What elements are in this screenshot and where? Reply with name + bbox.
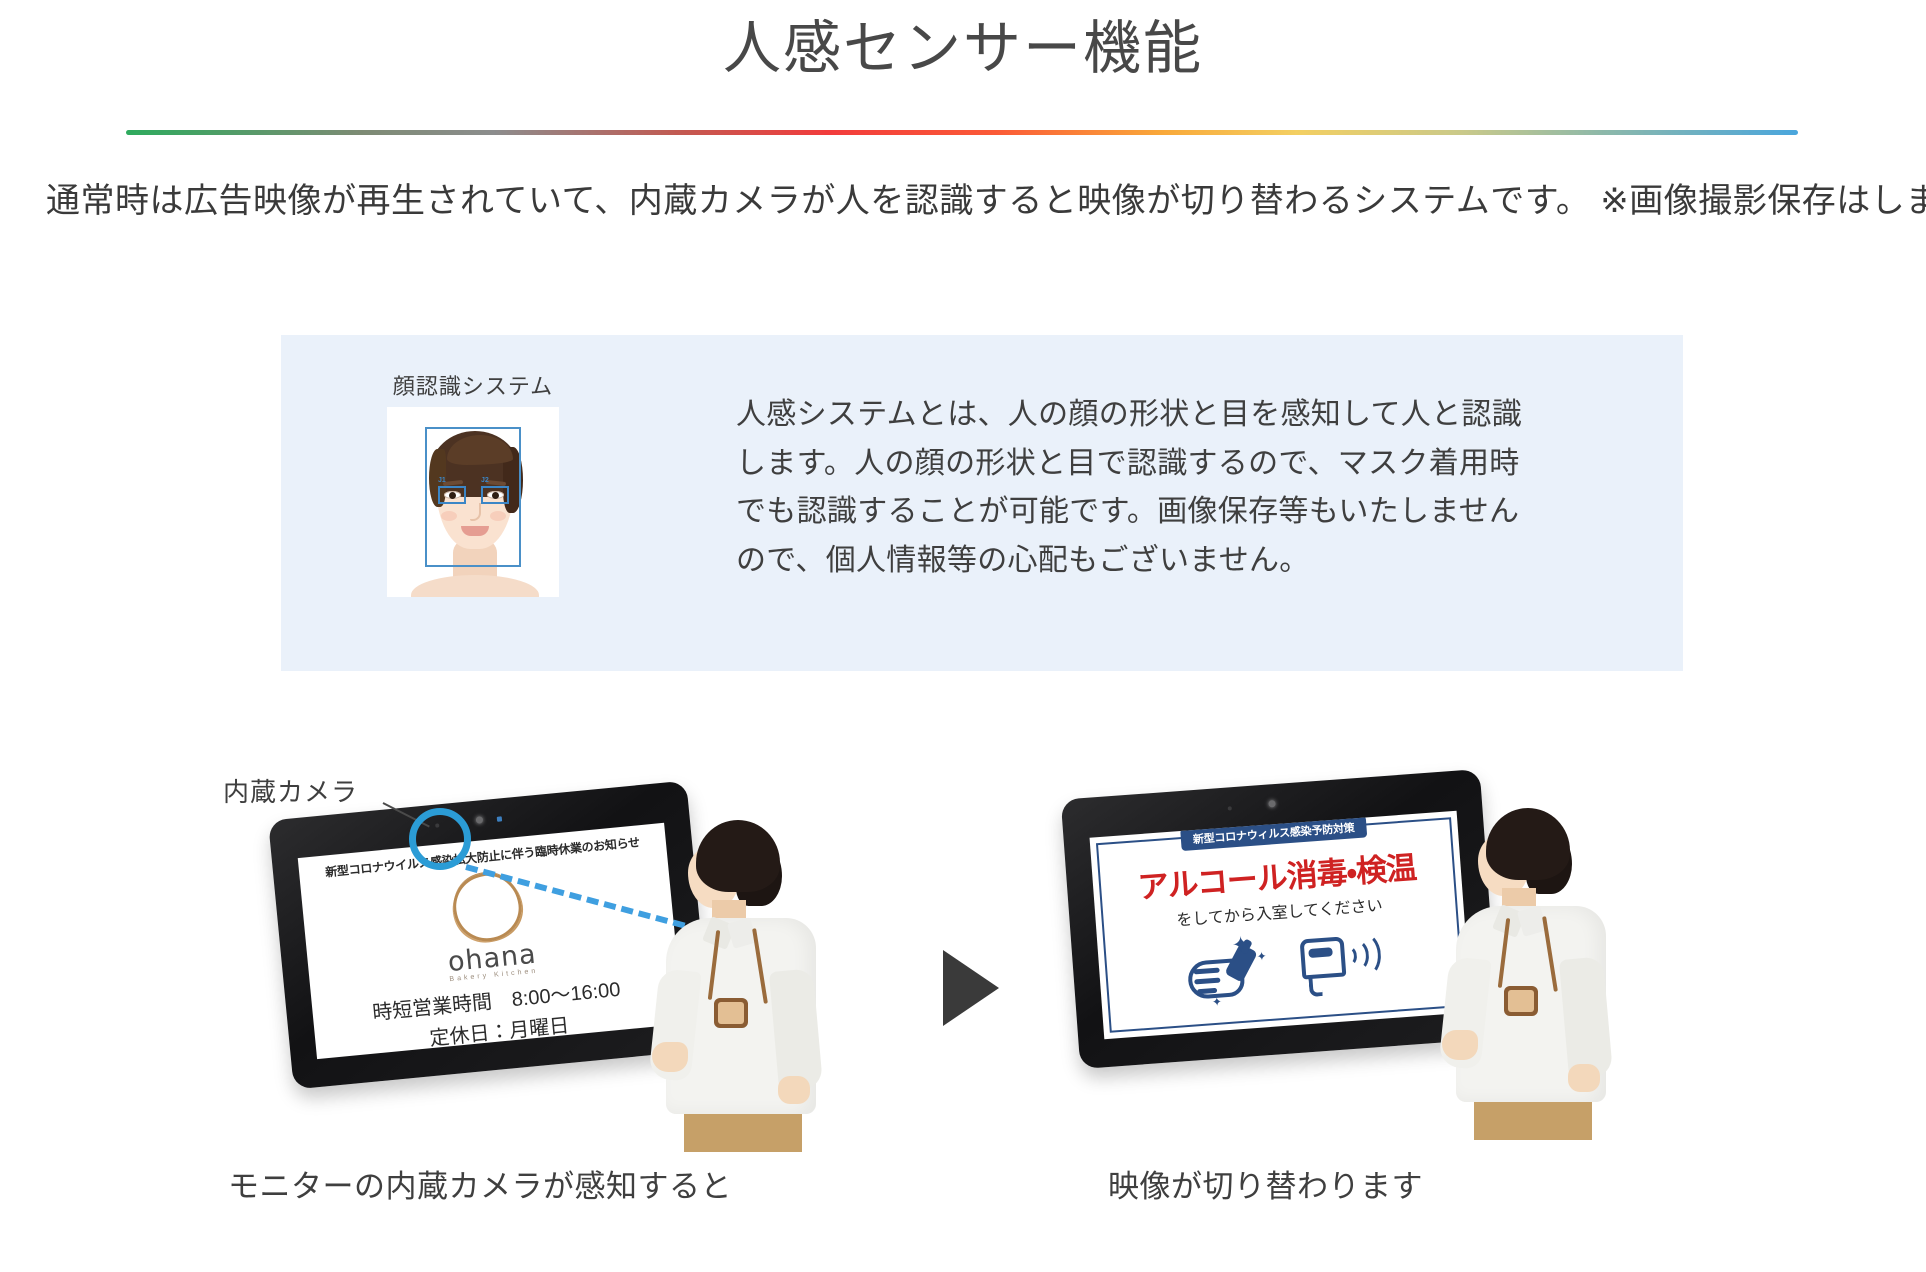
eye-detection-box-right	[481, 486, 509, 504]
lead-paragraph: 通常時は広告映像が再生されていて、内蔵カメラが人を認識すると映像が切り替わるシス…	[46, 176, 1886, 227]
person-hand-right	[1568, 1064, 1600, 1092]
person-figure-before	[650, 820, 840, 1150]
prevention-poster: 新型コロナウィルス感染予防対策 アルコール消毒・検温 をしてから入室してください…	[1096, 817, 1465, 1033]
face-recognition-info-panel: 顔認識システム J1 J2 人感システムとは、人の顔の形状と	[281, 335, 1683, 671]
face-shoulders	[411, 575, 539, 597]
camera-callout-label: 内蔵カメラ	[223, 772, 358, 809]
sparkle-icon: ✦	[1231, 933, 1251, 956]
person-hair	[1486, 808, 1570, 880]
eye-detection-tag-left: J1	[438, 477, 446, 484]
face-figure-caption: 顔認識システム	[383, 369, 563, 401]
face-photo: J1 J2	[387, 407, 559, 597]
thermometer-display-shape	[1308, 947, 1333, 958]
person-id-badge-inner	[718, 1002, 744, 1024]
hand-sanitizer-icon: ✦ ✦ ✦	[1185, 934, 1278, 1008]
person-id-badge-inner	[1508, 990, 1534, 1012]
person-hand-right	[778, 1076, 810, 1104]
person-hand-left	[1442, 1030, 1478, 1060]
built-in-camera-icon	[476, 816, 484, 824]
person-id-badge	[714, 998, 748, 1028]
thermometer-icon	[1299, 926, 1382, 1000]
eye-detection-box-left	[438, 486, 466, 504]
monitor-before: 新型コロナウイルス感染拡大防止に伴う臨時休業のお知らせ ohana Bakery…	[268, 780, 712, 1089]
poster-icon-row: ✦ ✦ ✦	[1105, 920, 1461, 1014]
caption-after: 映像が切り替わります	[1108, 1161, 1423, 1206]
person-id-badge	[1504, 986, 1538, 1016]
poster-badge: 新型コロナウィルス感染予防対策	[1180, 815, 1367, 851]
face-recognition-figure: 顔認識システム J1 J2	[383, 369, 563, 597]
monitor-screen-after: 新型コロナウィルス感染予防対策 アルコール消毒・検温 をしてから入室してください…	[1090, 811, 1472, 1039]
page-title: 人感センサー機能	[0, 14, 1926, 84]
sparkle-icon: ✦	[1211, 995, 1222, 1008]
eye-detection-tag-right: J2	[481, 477, 489, 484]
info-panel-body-text: 人感システムとは、人の顔の形状と目を感知して人と認識します。人の顔の形状と目で認…	[736, 391, 1526, 585]
play-triangle-icon	[943, 950, 999, 1026]
monitor-after: 新型コロナウィルス感染予防対策 アルコール消毒・検温 をしてから入室してください…	[1061, 769, 1500, 1069]
camera-indicator-icon	[497, 816, 502, 821]
sparkle-icon: ✦	[1256, 950, 1267, 963]
caption-before: モニターの内蔵カメラが感知すると	[228, 1161, 732, 1206]
person-hand-left	[652, 1042, 688, 1072]
built-in-camera-icon	[1268, 800, 1275, 807]
sensor-dot-icon	[1228, 806, 1232, 810]
thermometer-grip-shape	[1308, 974, 1323, 997]
thermometer-body-shape	[1300, 936, 1347, 979]
person-figure-after	[1440, 808, 1630, 1138]
camera-highlight-ring	[409, 808, 471, 870]
person-hair	[696, 820, 780, 892]
monitor-screen-before: 新型コロナウイルス感染拡大防止に伴う臨時休業のお知らせ ohana Bakery…	[298, 823, 684, 1059]
signal-wave-icon	[1347, 932, 1382, 978]
title-divider-rule	[126, 130, 1798, 135]
